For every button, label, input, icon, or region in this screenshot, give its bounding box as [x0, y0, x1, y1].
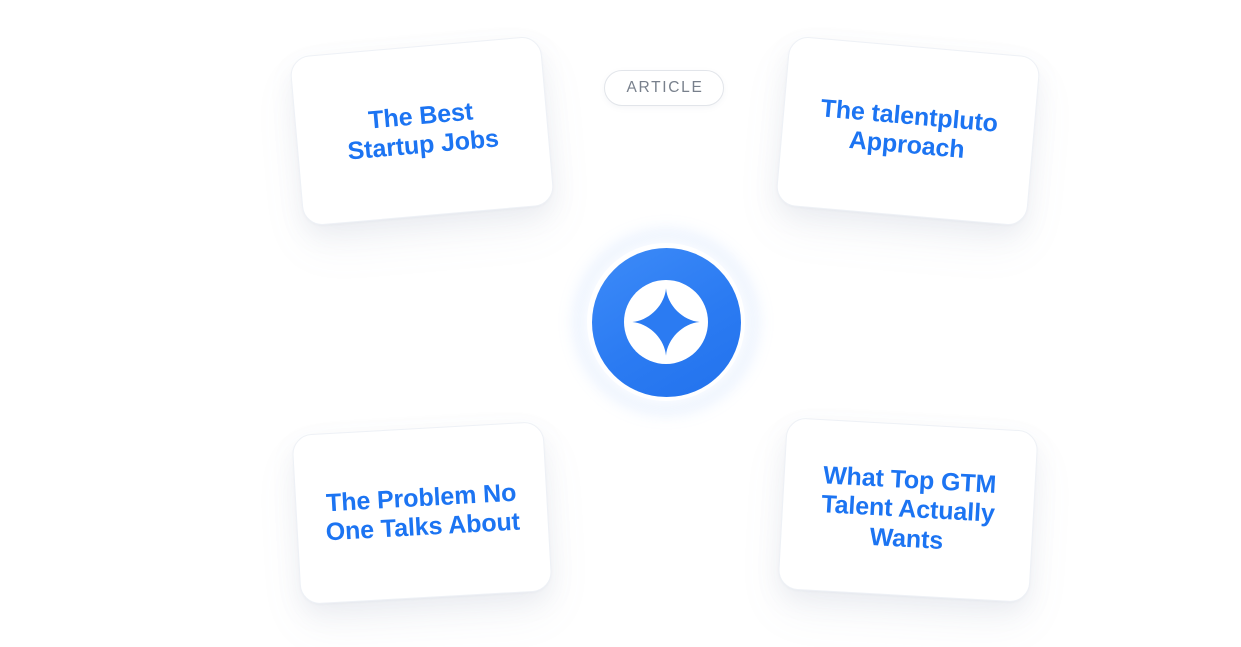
article-card-title: The Best Startup Jobs: [328, 94, 516, 169]
sparkle-star-icon: [631, 287, 701, 357]
article-card-bottom-right[interactable]: What Top GTM Talent Actually Wants: [777, 417, 1038, 603]
article-card-title: What Top GTM Talent Actually Wants: [803, 460, 1013, 560]
logo-blue-circle: [592, 248, 741, 397]
article-card-title: The talentpluto Approach: [801, 92, 1015, 169]
article-card-title: The Problem No One Talks About: [307, 477, 536, 549]
article-badge: ARTICLE: [604, 70, 724, 106]
article-badge-label: ARTICLE: [624, 80, 703, 96]
brand-logo[interactable]: [561, 217, 771, 427]
article-card-top-left[interactable]: The Best Startup Jobs: [289, 35, 555, 226]
article-card-bottom-left[interactable]: The Problem No One Talks About: [291, 421, 552, 605]
logo-inner-disc: [624, 280, 708, 364]
article-hub-canvas: ARTICLE The Best Startup Jobs The talent…: [0, 0, 1241, 647]
article-card-top-right[interactable]: The talentpluto Approach: [775, 35, 1041, 226]
